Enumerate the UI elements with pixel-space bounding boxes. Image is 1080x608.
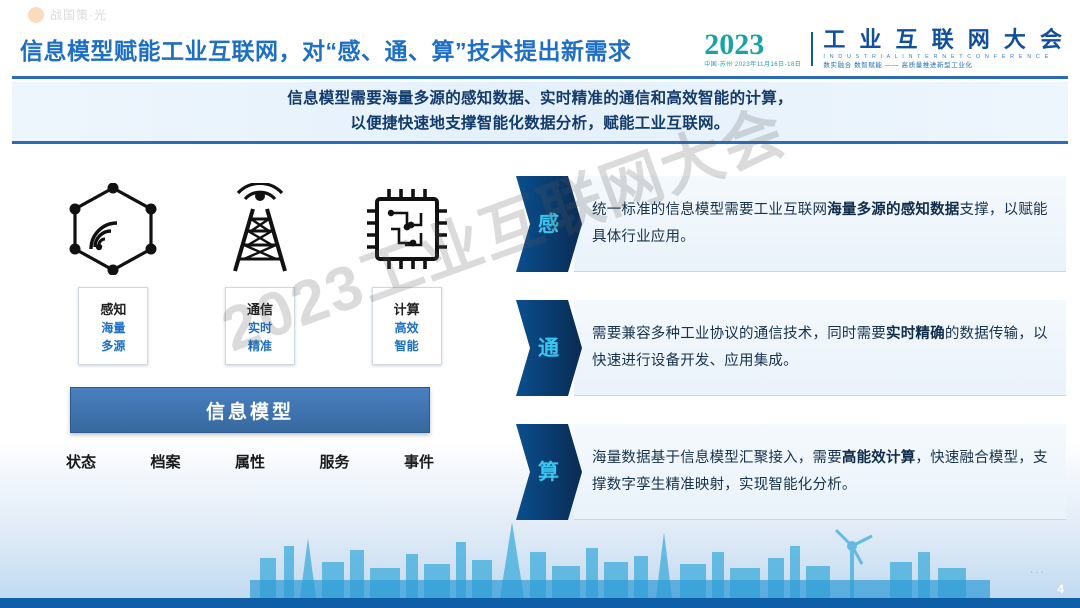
page-title: 信息模型赋能工业互联网，对“感、通、算”技术提出新需求 — [20, 32, 632, 66]
panel-badge-communication: 通 — [538, 332, 559, 362]
page-number: 4 — [1057, 582, 1064, 596]
leaf-state: 状态 — [66, 451, 96, 472]
panel-badge-computing: 算 — [538, 456, 559, 486]
conference-logo: 2023 中国·苏州 2023年11月16日-18日 工 业 互 联 网 大 会… — [704, 28, 1066, 69]
card-title: 计算 — [394, 299, 420, 318]
logo-name-cn: 工 业 互 联 网 大 会 — [823, 28, 1066, 52]
card-attr-1: 实时 — [248, 319, 272, 336]
card-attr-1: 高效 — [395, 319, 419, 336]
panel-arrow-computing: 算 — [516, 424, 582, 520]
diagram-column: 感知 海量 多源 通信 实时 精准 计算 高效 智能 信息模型 状态 档案 属性… — [40, 165, 480, 472]
leaf-event: 事件 — [404, 451, 434, 472]
card-attr-2: 精准 — [248, 337, 272, 354]
attribute-card-computing: 计算 高效 智能 — [372, 287, 442, 365]
panel-arrow-sensing: 感 — [516, 176, 582, 272]
card-title: 通信 — [247, 299, 273, 318]
leaf-archive: 档案 — [150, 451, 180, 472]
watermark-top-left: 战国策·光 — [28, 6, 107, 23]
card-title: 感知 — [100, 299, 126, 318]
information-model-bar: 信息模型 — [70, 387, 430, 433]
antenna-tower-icon — [195, 183, 325, 275]
summary-band: 信息模型需要海量多源的感知数据、实时精准的通信和高效智能的计算， 以便捷快速地支… — [12, 82, 1068, 144]
panel-communication: 通 需要兼容多种工业协议的通信技术，同时需要实时精确的数据传输，以快速进行设备开… — [516, 300, 1066, 396]
slide-header: 信息模型赋能工业互联网，对“感、通、算”技术提出新需求 2023 中国·苏州 2… — [0, 30, 1080, 72]
header-underline — [12, 76, 1068, 79]
logo-year: 2023 中国·苏州 2023年11月16日-18日 — [704, 30, 801, 68]
panel-body-communication: 需要兼容多种工业协议的通信技术，同时需要实时精确的数据传输，以快速进行设备开发、… — [574, 300, 1066, 396]
attribute-card-row: 感知 海量 多源 通信 实时 精准 计算 高效 智能 — [40, 287, 480, 365]
explanation-panels: 感 统一标准的信息模型需要工业互联网海量多源的感知数据支撑，以赋能具体行业应用。… — [516, 176, 1066, 548]
panel-sensing: 感 统一标准的信息模型需要工业互联网海量多源的感知数据支撑，以赋能具体行业应用。 — [516, 176, 1066, 272]
panel-text-computing: 海量数据基于信息模型汇聚接入，需要高能效计算，快速融合模型，支撑数字孪生精准映射… — [592, 445, 1052, 499]
cpu-chip-icon — [342, 183, 472, 275]
watermark-dot-icon — [28, 7, 44, 23]
logo-tagline: 数实融合 数智赋能 —— 高质量推进新型工业化 — [823, 62, 1066, 69]
diagram-icon-row — [40, 165, 480, 275]
footer-dots: ... — [1030, 562, 1046, 576]
logo-name-en: I N D U S T R I A L I N T E R N E T C O … — [823, 54, 1066, 60]
panel-body-sensing: 统一标准的信息模型需要工业互联网海量多源的感知数据支撑，以赋能具体行业应用。 — [574, 176, 1066, 272]
sensing-network-icon — [48, 183, 178, 275]
panel-text-communication: 需要兼容多种工业协议的通信技术，同时需要实时精确的数据传输，以快速进行设备开发、… — [592, 321, 1052, 375]
attribute-card-sensing: 感知 海量 多源 — [78, 287, 148, 365]
panel-arrow-communication: 通 — [516, 300, 582, 396]
watermark-top-left-label: 战国策·光 — [50, 6, 107, 23]
summary-line-1: 信息模型需要海量多源的感知数据、实时精准的通信和高效智能的计算， — [287, 87, 793, 111]
information-model-label: 信息模型 — [206, 397, 294, 424]
card-attr-1: 海量 — [101, 319, 125, 336]
panel-badge-sensing: 感 — [538, 208, 559, 238]
panel-text-sensing: 统一标准的信息模型需要工业互联网海量多源的感知数据支撑，以赋能具体行业应用。 — [592, 197, 1052, 251]
model-leaf-row: 状态 档案 属性 服务 事件 — [66, 451, 434, 472]
leaf-attribute: 属性 — [235, 451, 265, 472]
bottom-edge-band — [0, 598, 1080, 608]
logo-year-sub: 中国·苏州 2023年11月16日-18日 — [704, 62, 801, 68]
card-attr-2: 智能 — [395, 337, 419, 354]
logo-divider — [811, 32, 813, 66]
slide: 战国策·光 信息模型赋能工业互联网，对“感、通、算”技术提出新需求 2023 中… — [0, 0, 1080, 608]
attribute-card-communication: 通信 实时 精准 — [225, 287, 295, 365]
leaf-service: 服务 — [319, 451, 349, 472]
logo-year-text: 2023 — [704, 28, 764, 61]
summary-line-2: 以便捷快速地支撑智能化数据分析，赋能工业互联网。 — [350, 112, 729, 136]
card-attr-2: 多源 — [101, 337, 125, 354]
logo-text-block: 工 业 互 联 网 大 会 I N D U S T R I A L I N T … — [823, 28, 1066, 69]
